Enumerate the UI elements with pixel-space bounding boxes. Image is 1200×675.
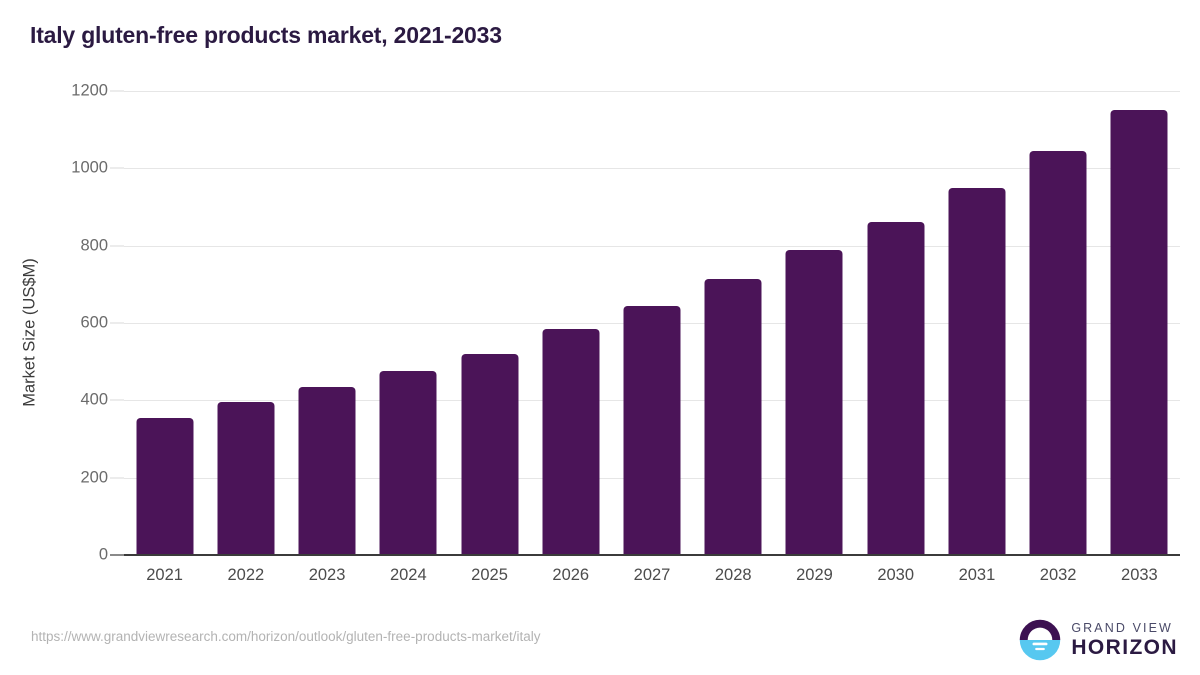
chart-page: Italy gluten-free products market, 2021-…: [0, 0, 1200, 675]
bar-slot: [1099, 91, 1180, 555]
bar-slot: [449, 91, 530, 555]
x-tick-label: 2023: [309, 566, 346, 585]
y-tick-mark: [110, 477, 124, 478]
bar-2033[interactable]: [1111, 110, 1168, 555]
y-tick-label: 0: [99, 546, 108, 565]
x-tick-label: 2027: [634, 566, 671, 585]
x-tick-label: 2024: [390, 566, 427, 585]
x-tick-label: 2021: [146, 566, 183, 585]
brand-line-2: HORIZON: [1071, 637, 1178, 658]
bar-2032[interactable]: [1030, 151, 1087, 555]
y-tick-label: 200: [80, 468, 108, 487]
x-tick-label: 2022: [227, 566, 264, 585]
bar-2025[interactable]: [461, 354, 518, 555]
bar-2021[interactable]: [136, 418, 193, 555]
brand-logo: GRAND VIEW HORIZON: [1018, 618, 1178, 662]
x-tick-label: 2030: [877, 566, 914, 585]
brand-line-1: GRAND VIEW: [1071, 622, 1178, 635]
bar-slot: [693, 91, 774, 555]
y-tick-label: 400: [80, 391, 108, 410]
y-tick-mark: [110, 555, 124, 556]
x-tick-label: 2033: [1121, 566, 1158, 585]
bar-2031[interactable]: [948, 188, 1005, 555]
x-axis-line: [110, 554, 1180, 556]
x-tick-label: 2025: [471, 566, 508, 585]
bar-slot: [205, 91, 286, 555]
bar-2028[interactable]: [705, 279, 762, 555]
y-tick-mark: [110, 168, 124, 169]
y-tick-mark: [110, 400, 124, 401]
bar-2029[interactable]: [786, 250, 843, 555]
y-tick-mark: [110, 91, 124, 92]
brand-wordmark: GRAND VIEW HORIZON: [1071, 622, 1178, 659]
bar-2023[interactable]: [299, 387, 356, 555]
bar-series: [124, 91, 1180, 555]
x-axis-tick-labels: 2021202220232024202520262027202820292030…: [124, 566, 1180, 596]
bar-slot: [774, 91, 855, 555]
bar-2030[interactable]: [867, 222, 924, 555]
y-axis-title: Market Size (US$M): [21, 123, 40, 543]
grand-view-horizon-logo-icon: [1018, 618, 1062, 662]
bar-2024[interactable]: [380, 371, 437, 555]
bar-slot: [530, 91, 611, 555]
x-tick-label: 2028: [715, 566, 752, 585]
bar-2027[interactable]: [623, 306, 680, 555]
bar-slot: [855, 91, 936, 555]
y-tick-label: 600: [80, 314, 108, 333]
bar-2026[interactable]: [542, 329, 599, 555]
source-url[interactable]: https://www.grandviewresearch.com/horizo…: [31, 629, 540, 644]
x-tick-label: 2031: [959, 566, 996, 585]
bar-slot: [611, 91, 692, 555]
bar-slot: [286, 91, 367, 555]
y-tick-label: 1000: [71, 159, 108, 178]
bar-slot: [1018, 91, 1099, 555]
x-tick-label: 2029: [796, 566, 833, 585]
x-tick-label: 2032: [1040, 566, 1077, 585]
x-tick-label: 2026: [552, 566, 589, 585]
bar-slot: [936, 91, 1017, 555]
bar-slot: [368, 91, 449, 555]
y-tick-label: 800: [80, 236, 108, 255]
y-tick-mark: [110, 323, 124, 324]
y-axis-tick-labels: 020040060080010001200: [0, 0, 124, 675]
y-tick-label: 1200: [71, 82, 108, 101]
y-tick-mark: [110, 245, 124, 246]
bar-2022[interactable]: [217, 402, 274, 555]
bar-slot: [124, 91, 205, 555]
